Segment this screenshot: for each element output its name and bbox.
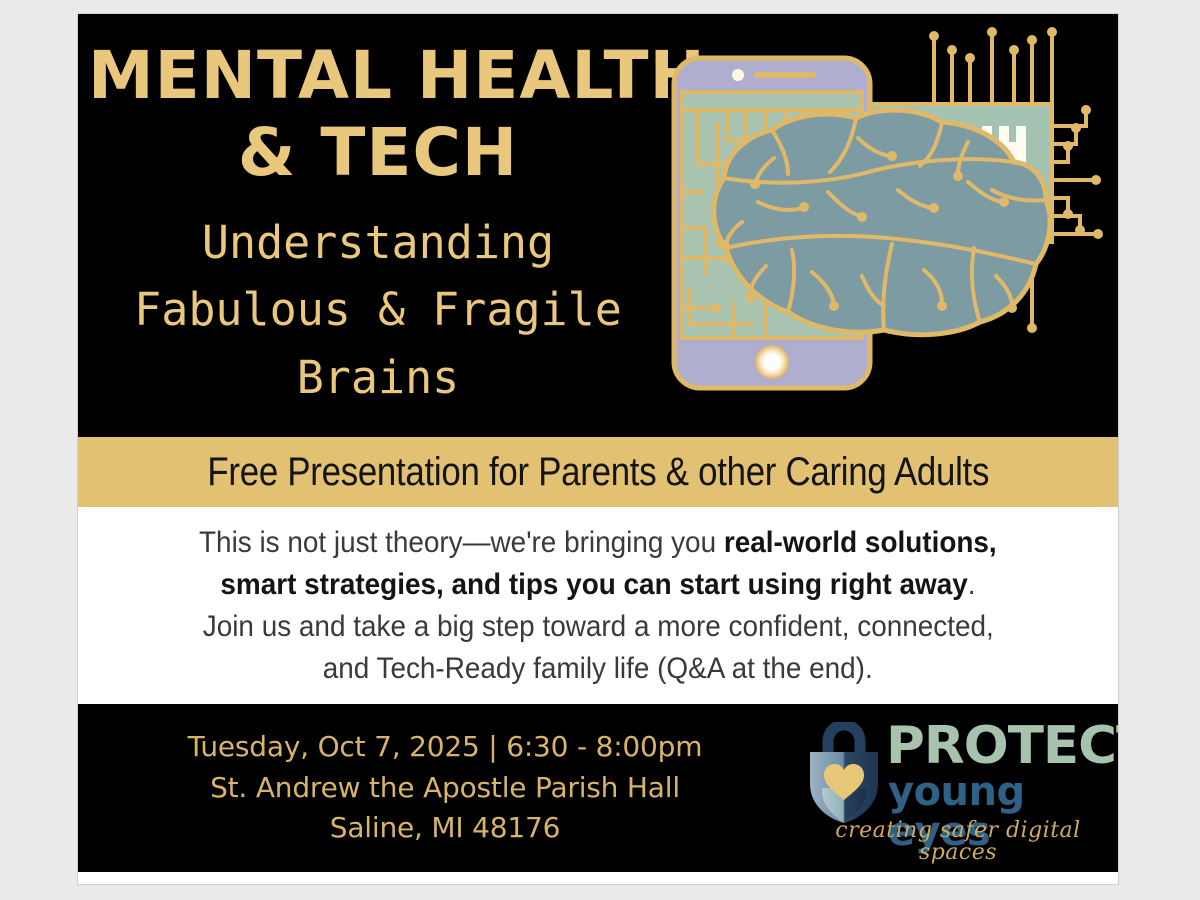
description-line-3: Join us and take a big step toward a mor… bbox=[202, 606, 993, 648]
logo-tagline-text: creating safer digital spaces bbox=[810, 820, 1106, 864]
hero-subtitle-line-2: Fabulous & Fragile bbox=[78, 276, 678, 344]
flyer-poster: MENTAL HEALTH & TECH Understanding Fabul… bbox=[78, 14, 1118, 884]
bottom-white-strip bbox=[78, 872, 1118, 884]
description-text: This is not just theory—we're bringing y… bbox=[199, 526, 724, 559]
description-emphasis: smart strategies, and tips you can start… bbox=[220, 568, 967, 601]
hero-section: MENTAL HEALTH & TECH Understanding Fabul… bbox=[78, 14, 1118, 437]
banner-label: Free Presentation for Parents & other Ca… bbox=[207, 450, 989, 495]
hero-subtitle-line-3: Brains bbox=[78, 344, 678, 412]
hero-subtitle-line-1: Understanding bbox=[78, 209, 678, 277]
page-title-line-2: & TECH bbox=[78, 119, 678, 186]
footer-section: Tuesday, Oct 7, 2025 | 6:30 - 8:00pm St.… bbox=[78, 704, 1118, 872]
description-text: Join us and take a big step toward a mor… bbox=[202, 610, 993, 643]
event-city-state-zip: Saline, MI 48176 bbox=[92, 808, 798, 849]
description-emphasis: real-world solutions, bbox=[724, 526, 997, 559]
padlock-icon-svg bbox=[802, 722, 886, 826]
illustration-svg bbox=[662, 14, 1118, 437]
page-title-line-1: MENTAL HEALTH bbox=[78, 42, 678, 109]
brain bbox=[714, 110, 1050, 335]
description-line-4: and Tech-Ready family life (Q&A at the e… bbox=[323, 648, 873, 690]
logo-wordmark: PROTECT young eyes creating safer digita… bbox=[886, 716, 1104, 861]
brain-phone-chip-illustration bbox=[662, 14, 1118, 437]
protect-young-eyes-logo: PROTECT young eyes creating safer digita… bbox=[802, 716, 1104, 861]
description-line-1: This is not just theory—we're bringing y… bbox=[199, 522, 997, 564]
phone-speaker bbox=[754, 72, 816, 78]
hero-text-block: MENTAL HEALTH & TECH Understanding Fabul… bbox=[78, 42, 678, 411]
padlock-shield-heart-icon bbox=[802, 722, 886, 826]
event-datetime: Tuesday, Oct 7, 2025 | 6:30 - 8:00pm bbox=[92, 727, 798, 768]
phone-camera bbox=[732, 69, 744, 81]
hero-subtitle: Understanding Fabulous & Fragile Brains bbox=[78, 209, 678, 412]
event-venue: St. Andrew the Apostle Parish Hall bbox=[92, 768, 798, 809]
logo-primary-text: PROTECT bbox=[886, 720, 1118, 772]
presentation-banner: Free Presentation for Parents & other Ca… bbox=[78, 437, 1118, 507]
description-text: . bbox=[968, 568, 976, 601]
description-text: and Tech-Ready family life (Q&A at the e… bbox=[323, 652, 873, 685]
phone-home-button bbox=[755, 345, 789, 379]
description-section: This is not just theory—we're bringing y… bbox=[78, 507, 1118, 704]
event-details: Tuesday, Oct 7, 2025 | 6:30 - 8:00pm St.… bbox=[78, 727, 798, 849]
description-line-2: smart strategies, and tips you can start… bbox=[220, 564, 975, 606]
